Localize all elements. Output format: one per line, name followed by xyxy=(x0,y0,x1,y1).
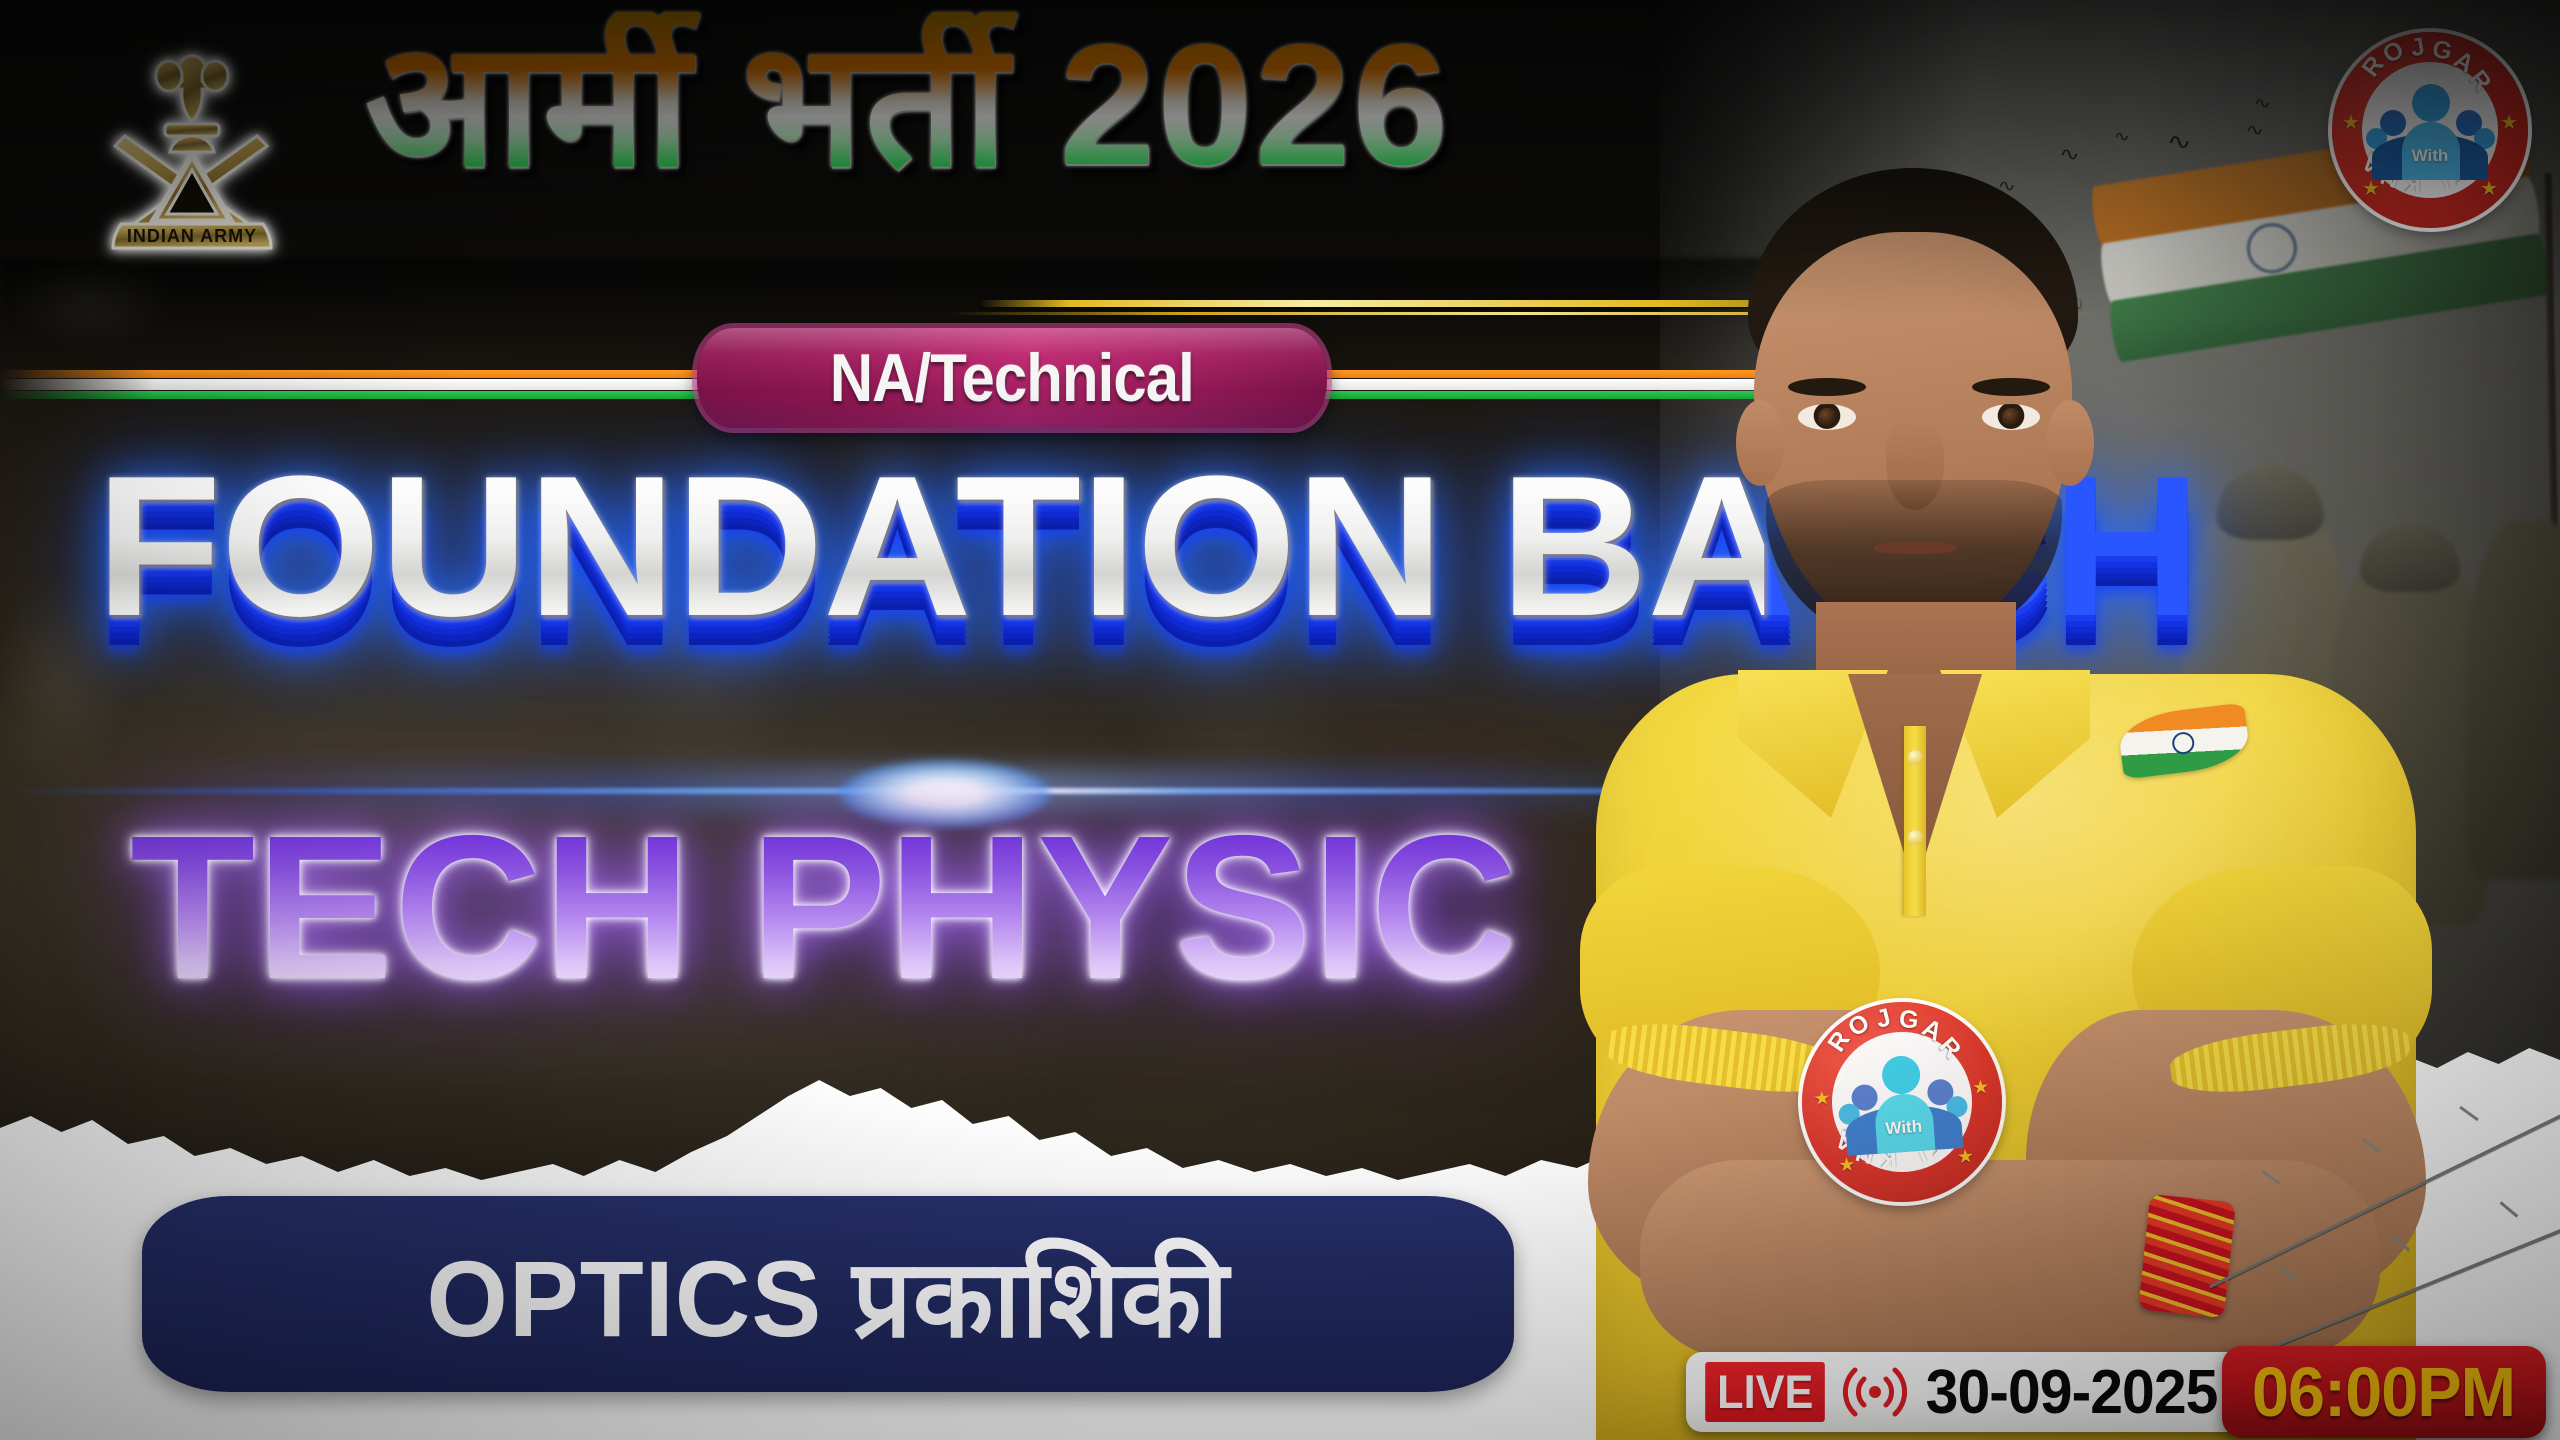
star-icon: ★ xyxy=(1838,1153,1857,1176)
logo-center-text: With xyxy=(2368,146,2492,166)
broadcast-waves-icon xyxy=(1838,1362,1912,1422)
presenter-ear-left xyxy=(1736,400,1784,486)
shirt-button xyxy=(1908,830,1923,845)
rojgar-with-ankit-logo-icon[interactable]: ROJGAR ANKIT ★ ★ ★ ★ With xyxy=(2332,32,2528,228)
presenter-photo xyxy=(1480,150,2560,1440)
people-group-icon: With xyxy=(2368,84,2492,180)
bird-icon: ∿ xyxy=(2245,122,2264,138)
presenter-brow-left xyxy=(1788,378,1866,396)
shirt-button xyxy=(1908,750,1923,765)
live-time-chip: 06:00PM xyxy=(2222,1346,2546,1438)
star-icon: ★ xyxy=(2342,110,2360,134)
topic-label: OPTICS प्रकाशिकी xyxy=(427,1221,1230,1368)
subject-title: TECH PHYSICS xyxy=(130,790,1510,1026)
red-thread-bracelet-icon xyxy=(2138,1194,2236,1318)
star-icon: ★ xyxy=(1813,1087,1832,1110)
bird-icon: ∿ xyxy=(2253,96,2271,111)
live-badge: LIVE xyxy=(1705,1362,1825,1422)
thumbnail-canvas: ∿ ∿ ∿ ∿ ∿ ∿ ∿ xyxy=(0,0,2560,1440)
bird-icon: ∿ xyxy=(2114,130,2130,144)
presenter-crossed-arms xyxy=(1640,1160,2380,1360)
tricolor-divider-left xyxy=(0,368,700,402)
presenter-mouth xyxy=(1874,542,1956,554)
status-badge: NA/Technical xyxy=(697,328,1327,428)
presenter-eye-left xyxy=(1798,404,1856,430)
indian-army-emblem-icon: INDIAN ARMY xyxy=(95,38,290,258)
presenter-eye-right xyxy=(1982,404,2040,430)
star-icon: ★ xyxy=(1971,1076,1990,1099)
star-icon: ★ xyxy=(1956,1145,1975,1168)
presenter-ear-right xyxy=(2046,400,2094,486)
army-logo-caption: INDIAN ARMY xyxy=(127,226,257,246)
rojgar-with-ankit-logo-icon: ROJGAR ANKIT ★ ★ ★ ★ With xyxy=(1795,995,2008,1208)
topic-banner: OPTICS प्रकाशिकी xyxy=(142,1196,1514,1392)
live-time: 06:00PM xyxy=(2252,1352,2515,1432)
badge-label: NA/Technical xyxy=(830,339,1194,417)
presenter-brow-right xyxy=(1972,378,2050,396)
star-icon: ★ xyxy=(2500,110,2518,134)
live-date: 30-09-2025 xyxy=(1926,1357,2218,1428)
live-schedule-bar: LIVE 30-09-2025 06:00PM xyxy=(1686,1352,2538,1432)
people-group-icon: With xyxy=(1837,1052,1967,1156)
